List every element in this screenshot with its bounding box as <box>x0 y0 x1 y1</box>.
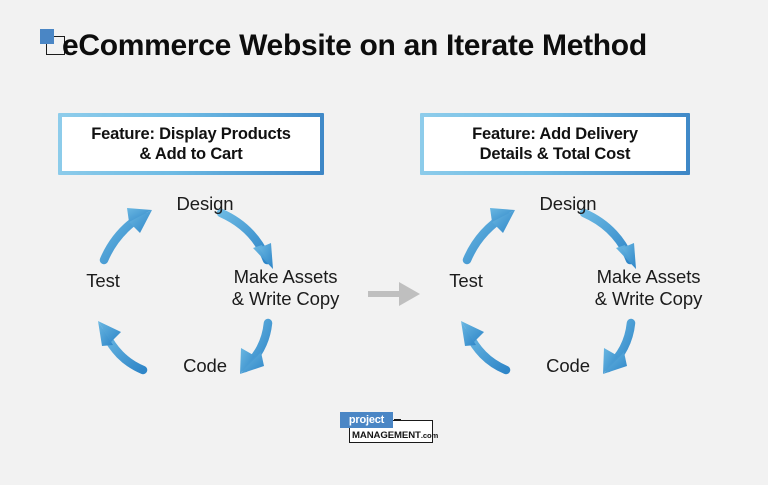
cycle-node-make-assets: Make Assets & Write Copy <box>203 266 368 310</box>
page-title: eCommerce Website on an Iterate Method <box>62 24 647 68</box>
cycle-node-test: Test <box>60 270 146 292</box>
cycle-add-delivery: Design Make Assets & Write Copy Code Tes… <box>418 190 718 395</box>
feature-label: Feature: Display Products & Add to Cart <box>85 124 296 164</box>
cycle-display-products: Design Make Assets & Write Copy Code Tes… <box>55 190 355 395</box>
logo-tld-text: .com <box>421 431 438 440</box>
right-arrow-icon <box>366 280 424 308</box>
logo-management-text: MANAGEMENT <box>352 430 421 441</box>
arrow-test-to-design <box>467 208 515 260</box>
feature-box-display-products: Feature: Display Products & Add to Cart <box>58 113 324 175</box>
feature-label: Feature: Add Delivery Details & Total Co… <box>466 124 644 164</box>
arrow-test-to-design <box>104 208 152 260</box>
slide-canvas: eCommerce Website on an Iterate Method F… <box>0 0 768 485</box>
arrow-code-to-test <box>98 321 143 370</box>
cycle-node-code: Code <box>513 355 623 377</box>
logo-word-project: project <box>340 412 393 428</box>
arrow-design-to-make <box>221 213 273 269</box>
header: eCommerce Website on an Iterate Method <box>38 24 738 84</box>
cycle-node-design: Design <box>508 193 628 215</box>
cycle-node-code: Code <box>150 355 260 377</box>
logo-word-management: MANAGEMENT.com <box>352 429 432 443</box>
cycle-node-design: Design <box>145 193 265 215</box>
arrow-code-to-test <box>461 321 506 370</box>
cycle-node-test: Test <box>423 270 509 292</box>
feature-box-add-delivery: Feature: Add Delivery Details & Total Co… <box>420 113 690 175</box>
cycle-node-make-assets: Make Assets & Write Copy <box>566 266 731 310</box>
arrow-design-to-make <box>584 213 636 269</box>
logo-dash-shape <box>394 419 401 421</box>
project-management-logo: project MANAGEMENT.com <box>340 412 434 448</box>
square-fill-shape <box>40 29 54 44</box>
